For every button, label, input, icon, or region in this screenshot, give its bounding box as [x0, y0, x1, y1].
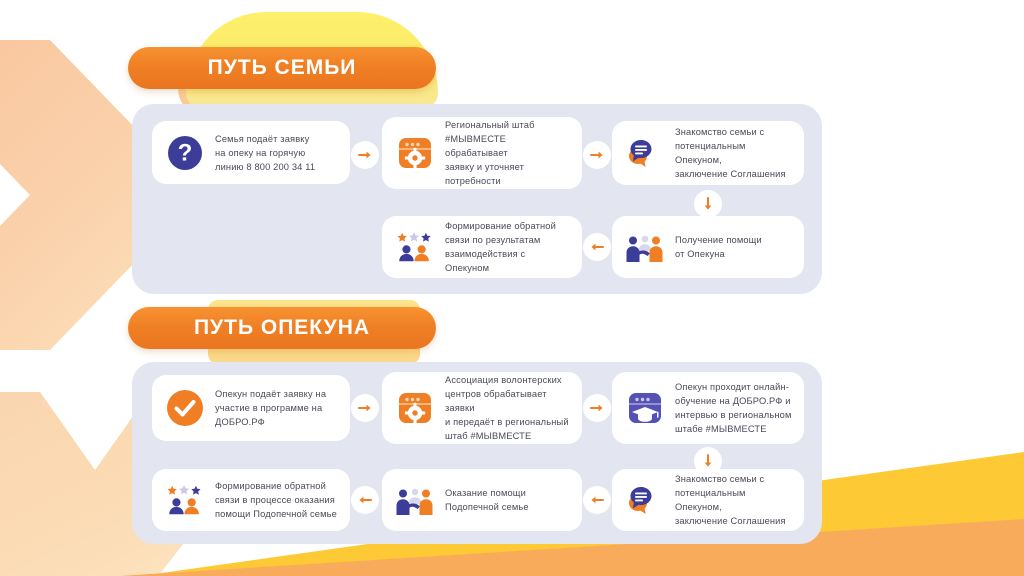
- text-line: Семья подаёт заявку: [215, 132, 315, 146]
- text-line: заявку и уточняет: [445, 160, 570, 174]
- browser-graduation-cap-icon: [626, 389, 664, 427]
- family-step-5-card[interactable]: Формирование обратной связи по результат…: [382, 216, 582, 278]
- arrow-right-icon: [583, 394, 611, 422]
- text-line: линию 8 800 200 34 11: [215, 160, 315, 174]
- text-line: Формирование обратной: [215, 479, 337, 493]
- people-stars-rating-icon: [166, 481, 204, 519]
- browser-gear-icon: [396, 134, 434, 172]
- text-line: от Опекуна: [675, 247, 762, 261]
- text-line: обучение на ДОБРО.РФ и: [675, 394, 792, 408]
- guardian-step-2-card[interactable]: Ассоциация волонтерских центров обрабаты…: [382, 372, 582, 444]
- people-handshake-icon: [396, 481, 434, 519]
- arrow-left-icon: [351, 486, 379, 514]
- family-step-4-card[interactable]: Получение помощи от Опекуна: [612, 216, 804, 278]
- text-line: Оказание помощи: [445, 486, 529, 500]
- guardian-step-1-card[interactable]: Опекун подаёт заявку на участие в програ…: [152, 375, 350, 441]
- text-line: на опеку на горячую: [215, 146, 315, 160]
- text-line: Подопечной семье: [445, 500, 529, 514]
- text-line: ДОБРО.РФ: [215, 415, 326, 429]
- guardian-step-2-text: Ассоциация волонтерских центров обрабаты…: [445, 373, 570, 443]
- arrow-right-icon: [351, 394, 379, 422]
- chat-bubbles-icon: [626, 481, 664, 519]
- text-line: интервью в региональном: [675, 408, 792, 422]
- family-step-4-text: Получение помощи от Опекуна: [675, 233, 762, 261]
- guardian-step-6-card[interactable]: Формирование обратной связи в процессе о…: [152, 469, 350, 531]
- text-line: заключение Соглашения: [675, 167, 792, 181]
- guardian-step-3-text: Опекун проходит онлайн- обучение на ДОБР…: [675, 380, 792, 436]
- text-line: Получение помощи: [675, 233, 762, 247]
- family-step-2-text: Региональный штаб #МЫВМЕСТЕ обрабатывает…: [445, 118, 570, 188]
- guardian-step-4-card[interactable]: Знакомство семьи с потенциальным Опекуно…: [612, 469, 804, 531]
- guardian-path-title: ПУТЬ ОПЕКУНА: [194, 316, 370, 340]
- slide-canvas: ПУТЬ СЕМЬИ ? Семья подаёт заявку на опек…: [0, 0, 1024, 576]
- text-line: штаб #МЫВМЕСТЕ: [445, 429, 570, 443]
- text-line: Опекун подаёт заявку на: [215, 387, 326, 401]
- guardian-step-5-text: Оказание помощи Подопечной семье: [445, 486, 529, 514]
- guardian-path-title-pill: ПУТЬ ОПЕКУНА: [128, 307, 436, 349]
- guardian-step-6-text: Формирование обратной связи в процессе о…: [215, 479, 337, 521]
- guardian-step-1-text: Опекун подаёт заявку на участие в програ…: [215, 387, 326, 429]
- arrow-left-icon: [583, 233, 611, 261]
- text-line: Знакомство семьи с: [675, 472, 792, 486]
- text-line: Знакомство семьи с: [675, 125, 792, 139]
- text-line: Формирование обратной: [445, 219, 570, 233]
- text-line: #МЫВМЕСТЕ обрабатывает: [445, 132, 570, 160]
- family-step-3-card[interactable]: Знакомство семьи с потенциальным Опекуно…: [612, 121, 804, 185]
- text-line: связи в процессе оказания: [215, 493, 337, 507]
- text-line: Ассоциация волонтерских: [445, 373, 570, 387]
- guardian-step-4-text: Знакомство семьи с потенциальным Опекуно…: [675, 472, 792, 528]
- text-line: участие в программе на: [215, 401, 326, 415]
- people-handshake-icon: [626, 228, 664, 266]
- text-line: связи по результатам: [445, 233, 570, 247]
- text-line: центров обрабатывает заявки: [445, 387, 570, 415]
- text-line: штабе #МЫВМЕСТЕ: [675, 422, 792, 436]
- guardian-step-3-card[interactable]: Опекун проходит онлайн- обучение на ДОБР…: [612, 372, 804, 444]
- text-line: и передаёт в региональный: [445, 415, 570, 429]
- arrow-right-icon: [583, 141, 611, 169]
- text-line: взаимодействия с Опекуном: [445, 247, 570, 275]
- family-step-1-card[interactable]: ? Семья подаёт заявку на опеку на горячу…: [152, 121, 350, 184]
- arrow-left-icon: [583, 486, 611, 514]
- check-circle-icon: [166, 389, 204, 427]
- family-step-1-text: Семья подаёт заявку на опеку на горячую …: [215, 132, 315, 174]
- text-line: помощи Подопечной семье: [215, 507, 337, 521]
- arrow-down-icon: [694, 190, 722, 218]
- people-stars-rating-icon: [396, 228, 434, 266]
- family-path-title: ПУТЬ СЕМЬИ: [208, 56, 357, 80]
- svg-text:?: ?: [178, 139, 193, 166]
- question-mark-circle-icon: ?: [166, 134, 204, 172]
- text-line: заключение Соглашения: [675, 514, 792, 528]
- guardian-step-5-card[interactable]: Оказание помощи Подопечной семье: [382, 469, 582, 531]
- text-line: потребности: [445, 174, 570, 188]
- family-path-title-pill: ПУТЬ СЕМЬИ: [128, 47, 436, 89]
- text-line: Региональный штаб: [445, 118, 570, 132]
- browser-gear-icon: [396, 389, 434, 427]
- text-line: потенциальным Опекуном,: [675, 486, 792, 514]
- family-step-3-text: Знакомство семьи с потенциальным Опекуно…: [675, 125, 792, 181]
- arrow-right-icon: [351, 141, 379, 169]
- text-line: потенциальным Опекуном,: [675, 139, 792, 167]
- text-line: Опекун проходит онлайн-: [675, 380, 792, 394]
- family-step-2-card[interactable]: Региональный штаб #МЫВМЕСТЕ обрабатывает…: [382, 117, 582, 189]
- family-step-5-text: Формирование обратной связи по результат…: [445, 219, 570, 275]
- chat-bubbles-icon: [626, 134, 664, 172]
